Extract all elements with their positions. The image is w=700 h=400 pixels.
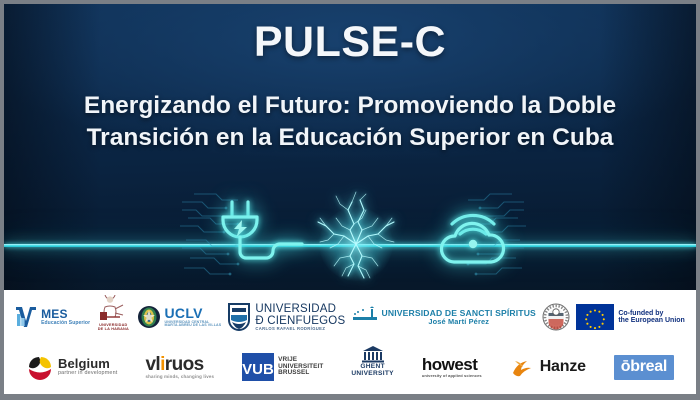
slide-hero-banner: PULSE-C Energizando el Futuro: Promovien… bbox=[4, 4, 696, 290]
ghent-university-logo: GHENT UNIVERSITY bbox=[351, 345, 394, 389]
subtitle-line-2: Transición en la Educación Superior en C… bbox=[28, 122, 672, 154]
uclv-sub-2: MARTA ABREU DE LAS VILLAS bbox=[165, 324, 222, 328]
universidad-de-sancti-spiritus-logo: UNIVERSIDAD DE SANCTI SPÍRITUS José Mart… bbox=[352, 295, 536, 339]
hanze-name: Hanze bbox=[540, 359, 586, 376]
cienfuegos-shield-icon bbox=[227, 302, 251, 332]
partner-logo-bar: MES Educación Superior bbox=[4, 290, 696, 394]
ghent-line-2: UNIVERSITY bbox=[351, 371, 394, 378]
mes-name: MES bbox=[41, 308, 90, 321]
universidad-de-cienfuegos-logo: UNIVERSIDAD Ð CIENFUEGOS CARLOS RAFAEL R… bbox=[227, 295, 345, 339]
uclv-seal-icon bbox=[137, 305, 161, 329]
svg-text:VUB: VUB bbox=[242, 361, 274, 378]
hanze-mark-icon bbox=[510, 355, 536, 379]
oriente-seal-icon bbox=[542, 303, 570, 331]
subtitle-line-1: Energizando el Futuro: Promoviendo la Do… bbox=[84, 92, 616, 119]
belgium-mark-icon bbox=[26, 354, 54, 380]
eu-funding-line-2: the European Union bbox=[618, 317, 685, 324]
vliruos-name: vliruos bbox=[145, 355, 203, 375]
howest-tagline: university of applied sciences bbox=[422, 374, 482, 378]
sancti-spiritus-line-2: José Martí Pérez bbox=[382, 318, 536, 326]
universidad-de-oriente-seal-logo bbox=[542, 295, 570, 339]
vliruos-tagline: sharing minds, changing lives bbox=[145, 375, 214, 380]
mes-tagline: Educación Superior bbox=[41, 321, 90, 326]
belgium-logo: Belgium partner in development bbox=[26, 345, 118, 389]
obreal-logo: ōbreal bbox=[614, 345, 674, 389]
neon-graphic-band bbox=[4, 182, 696, 290]
belgium-tagline: partner in development bbox=[58, 371, 118, 377]
eu-flag-icon bbox=[576, 304, 614, 330]
hanze-logo: Hanze bbox=[510, 345, 586, 389]
partner-logo-row-1: MES Educación Superior bbox=[4, 292, 696, 342]
habana-seal-icon bbox=[96, 295, 130, 323]
obreal-badge: ōbreal bbox=[614, 355, 674, 380]
universidad-de-la-habana-logo: UNIVERSIDAD DE LA HABANA bbox=[96, 295, 130, 339]
vliruos-name-part-b: ruos bbox=[165, 354, 204, 375]
mes-logo: MES Educación Superior bbox=[15, 295, 90, 339]
vliruos-logo: vliruos sharing minds, changing lives bbox=[145, 345, 214, 389]
partner-logo-row-2: Belgium partner in development vliruos s… bbox=[4, 342, 696, 392]
slide-subtitle: Energizando el Futuro: Promoviendo la Do… bbox=[28, 90, 672, 154]
vliruos-name-part-a: vl bbox=[145, 354, 160, 375]
power-plug-icon bbox=[210, 196, 302, 282]
ghent-building-icon bbox=[362, 345, 384, 363]
uclv-logo: UCLV UNIVERSIDAD CENTRAL MARTA ABREU DE … bbox=[137, 295, 222, 339]
uclv-name: UCLV bbox=[165, 306, 222, 321]
belgium-name: Belgium bbox=[58, 357, 118, 371]
mes-mark-icon bbox=[15, 305, 37, 329]
habana-name-line-2: DE LA HABANA bbox=[98, 327, 129, 331]
vub-line-3: BRUSSEL bbox=[278, 370, 323, 377]
page-title: PULSE-C bbox=[4, 18, 696, 67]
sancti-spiritus-bridge-icon bbox=[352, 304, 378, 330]
obreal-name: ōbreal bbox=[621, 358, 667, 375]
eu-funding-line-1: Co-funded by bbox=[618, 310, 685, 317]
cienfuegos-line-1: UNIVERSIDAD bbox=[255, 303, 345, 315]
electric-arc-icon bbox=[300, 184, 412, 288]
vub-logo: VUB VRIJE UNIVERSITEIT BRUSSEL bbox=[242, 345, 323, 389]
cienfuegos-line-3: CARLOS RAFAEL RODRÍGUEZ bbox=[255, 327, 345, 331]
howest-logo: howest university of applied sciences bbox=[422, 345, 482, 389]
presentation-slide: PULSE-C Energizando el Futuro: Promovien… bbox=[0, 0, 700, 400]
cloud-wifi-icon bbox=[436, 194, 514, 276]
howest-name: howest bbox=[422, 356, 482, 374]
european-union-logo: Co-funded by the European Union bbox=[576, 295, 685, 339]
vub-mark-icon: VUB bbox=[242, 353, 274, 381]
